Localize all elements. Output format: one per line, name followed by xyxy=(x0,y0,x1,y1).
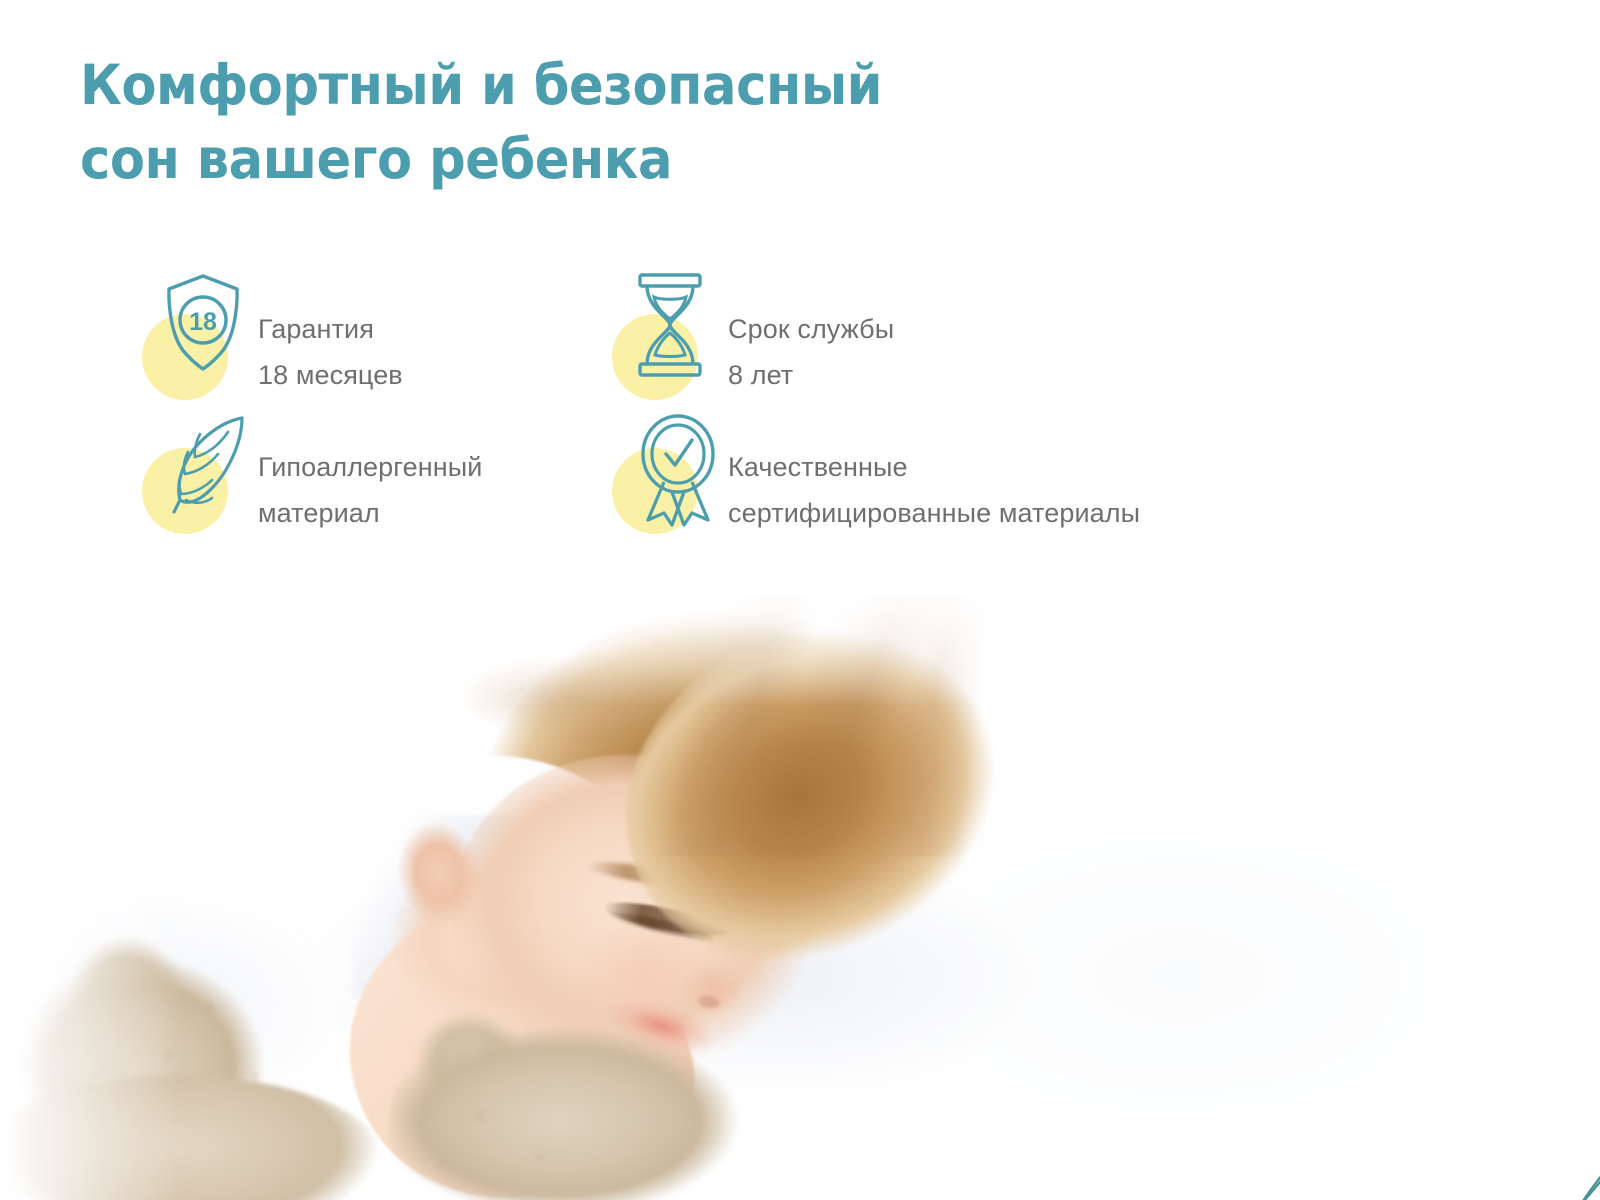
feature-icon-wrap xyxy=(610,402,728,552)
feature-item-hypoallergenic: Гипоаллергенный материал xyxy=(140,402,610,552)
photo-inner xyxy=(0,556,1600,1200)
feature-label-certified: Качественные сертифицированные материалы xyxy=(728,402,1140,536)
doodle-group-teal xyxy=(721,1146,1600,1200)
feature-line-1: Срок службы xyxy=(728,314,894,344)
feature-item-lifespan: Срок службы 8 лет xyxy=(610,262,1310,402)
feature-icon-wrap xyxy=(140,402,258,552)
shield-18-icon: 18 xyxy=(164,272,242,379)
feature-line-2: 8 лет xyxy=(728,352,894,398)
page-title-line-2: сон вашего ребенка xyxy=(80,122,1010,196)
feature-label-lifespan: Срок службы 8 лет xyxy=(728,262,894,398)
award-check-icon xyxy=(634,412,722,533)
feature-row-2: Гипоаллергенный материал К xyxy=(140,402,1320,552)
feature-icon-wrap xyxy=(610,262,728,402)
feature-line-2: материал xyxy=(258,490,482,536)
feature-label-hypoallergenic: Гипоаллергенный материал xyxy=(258,402,482,536)
feature-line-1: Качественные xyxy=(728,452,908,482)
feather-icon xyxy=(164,412,250,525)
photo-top-fade xyxy=(0,556,1600,706)
feature-line-1: Гипоаллергенный xyxy=(258,452,482,482)
feature-line-2: сертифицированные материалы xyxy=(728,490,1140,536)
page-title: Комфортный и безопасный сон вашего ребен… xyxy=(80,48,1010,196)
svg-text:18: 18 xyxy=(189,308,217,336)
feature-item-warranty: 18 Гарантия 18 месяцев xyxy=(140,262,610,402)
feature-item-certified: Качественные сертифицированные материалы xyxy=(610,402,1310,552)
page-title-line-1: Комфортный и безопасный xyxy=(80,48,1010,122)
hourglass-icon xyxy=(634,272,706,383)
feature-label-warranty: Гарантия 18 месяцев xyxy=(258,262,403,398)
hero-photo xyxy=(0,556,1600,1200)
feature-line-1: Гарантия xyxy=(258,314,374,344)
feature-line-2: 18 месяцев xyxy=(258,352,403,398)
feature-row-1: 18 Гарантия 18 месяцев xyxy=(140,262,1320,402)
feature-list: 18 Гарантия 18 месяцев xyxy=(140,262,1320,552)
feature-icon-wrap: 18 xyxy=(140,262,258,402)
